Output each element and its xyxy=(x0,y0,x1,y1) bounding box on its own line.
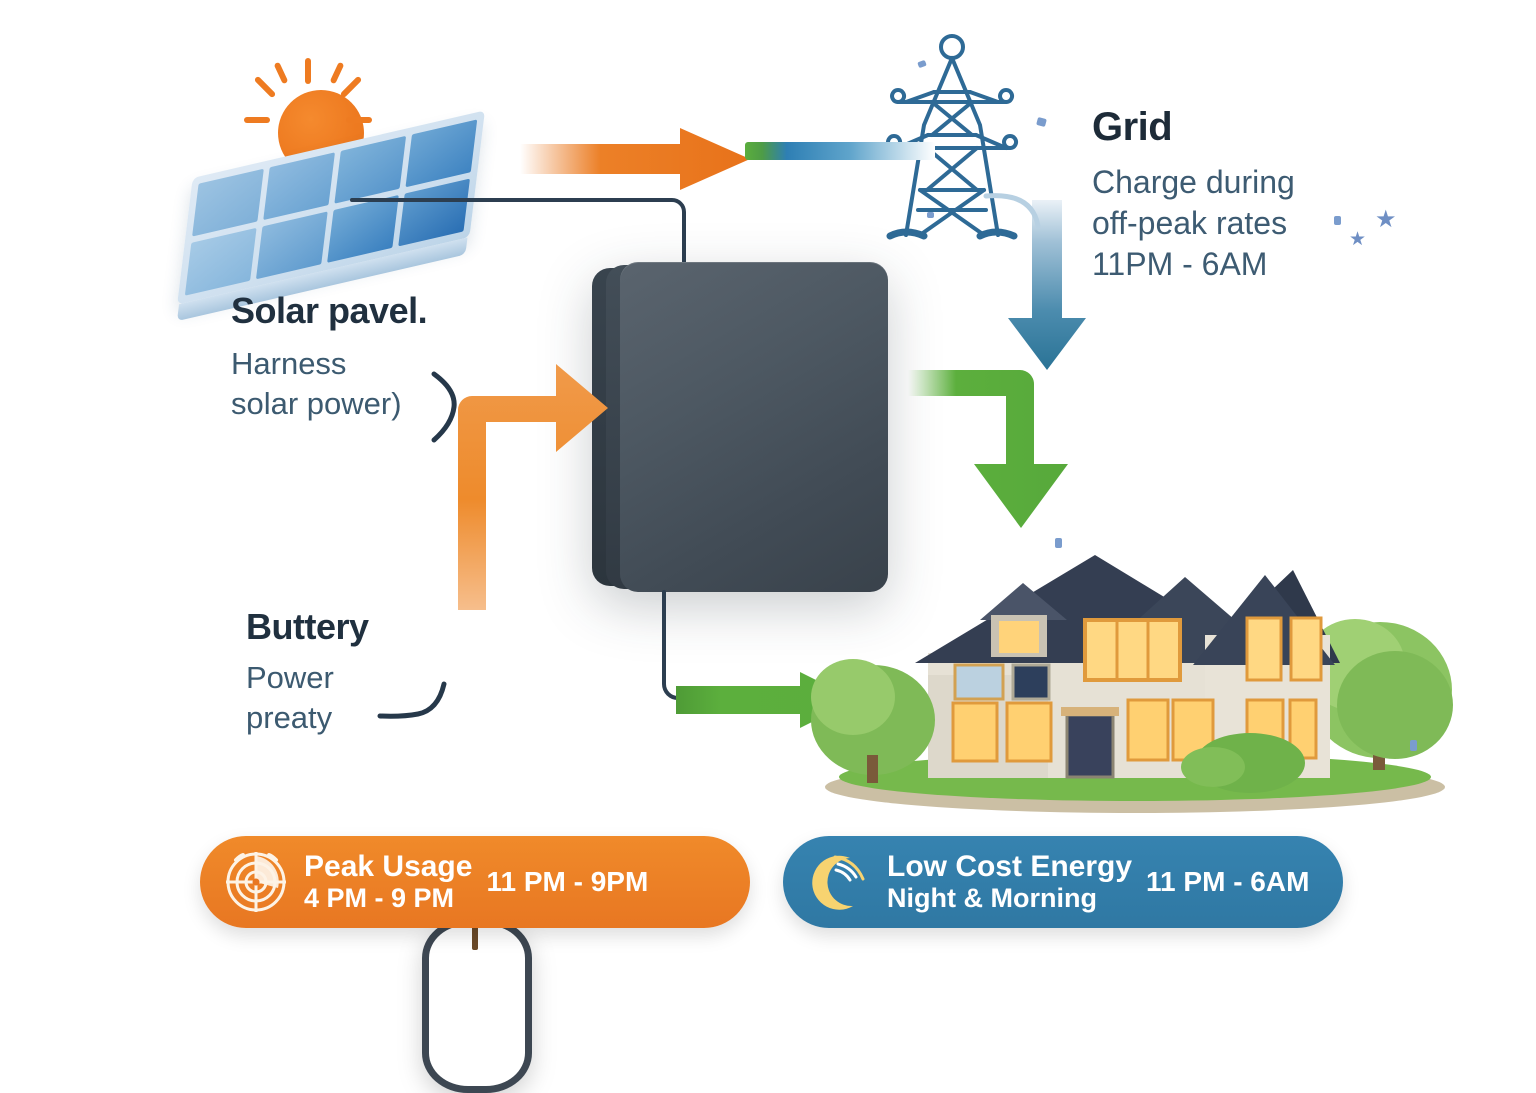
battery-icon xyxy=(422,918,532,1093)
decorative-dot xyxy=(1055,538,1062,548)
peak-usage-pill[interactable]: Peak Usage 4 PM - 9 PM 11 PM - 9PM xyxy=(200,836,750,928)
solar-desc-line1: Harness xyxy=(231,344,531,384)
infographic-canvas: Solar pavel. Harness solar power) Butter… xyxy=(0,0,1536,1024)
peak-usage-time: 11 PM - 9PM xyxy=(486,866,648,898)
decorative-dot xyxy=(1334,216,1341,225)
low-cost-energy-pill[interactable]: Low Cost Energy Night & Morning 11 PM - … xyxy=(783,836,1343,928)
house-icon xyxy=(795,515,1460,815)
grid-feed-bar xyxy=(745,142,935,160)
radar-clock-icon xyxy=(222,848,290,916)
decorative-dot xyxy=(1410,740,1417,751)
battery-title: Buttery xyxy=(246,606,506,648)
peak-usage-subtitle: 4 PM - 9 PM xyxy=(304,883,472,913)
solar-to-grid-arrow xyxy=(520,128,750,190)
solar-label-block: Solar pavel. Harness solar power) xyxy=(231,290,531,425)
grid-desc-line2: off-peak rates xyxy=(1092,203,1492,244)
low-cost-energy-title: Low Cost Energy xyxy=(887,851,1132,883)
low-cost-energy-time: 11 PM - 6AM xyxy=(1146,866,1309,898)
star-icon: ★ xyxy=(1349,230,1366,249)
moon-icon xyxy=(805,848,873,916)
decorative-dot xyxy=(1036,117,1047,127)
star-icon: ★ xyxy=(1375,208,1397,232)
panel-cell xyxy=(185,228,257,296)
grid-label-block: Grid Charge during off-peak rates 11PM -… xyxy=(1092,105,1492,285)
battery-desc-line2: preaty xyxy=(246,698,506,738)
battery-desc-line1: Power xyxy=(246,658,506,698)
peak-usage-title: Peak Usage xyxy=(304,851,472,883)
panel-cell xyxy=(263,152,335,220)
tower-to-arrow-curve xyxy=(986,188,1076,228)
grid-desc-line1: Charge during xyxy=(1092,162,1492,203)
panel-cell xyxy=(192,169,264,237)
decorative-dot xyxy=(927,212,934,218)
grid-title: Grid xyxy=(1092,105,1492,150)
panel-cell xyxy=(405,119,477,187)
solar-desc-line2: solar power) xyxy=(231,384,531,424)
low-cost-energy-subtitle: Night & Morning xyxy=(887,883,1132,913)
unit-to-home-arrow-top xyxy=(908,368,1088,528)
panel-cell xyxy=(256,211,328,279)
solar-title: Solar pavel. xyxy=(231,290,531,332)
battery-label-block: Buttery Power preaty xyxy=(246,606,506,739)
grid-desc-line3: 11PM - 6AM xyxy=(1092,244,1492,285)
